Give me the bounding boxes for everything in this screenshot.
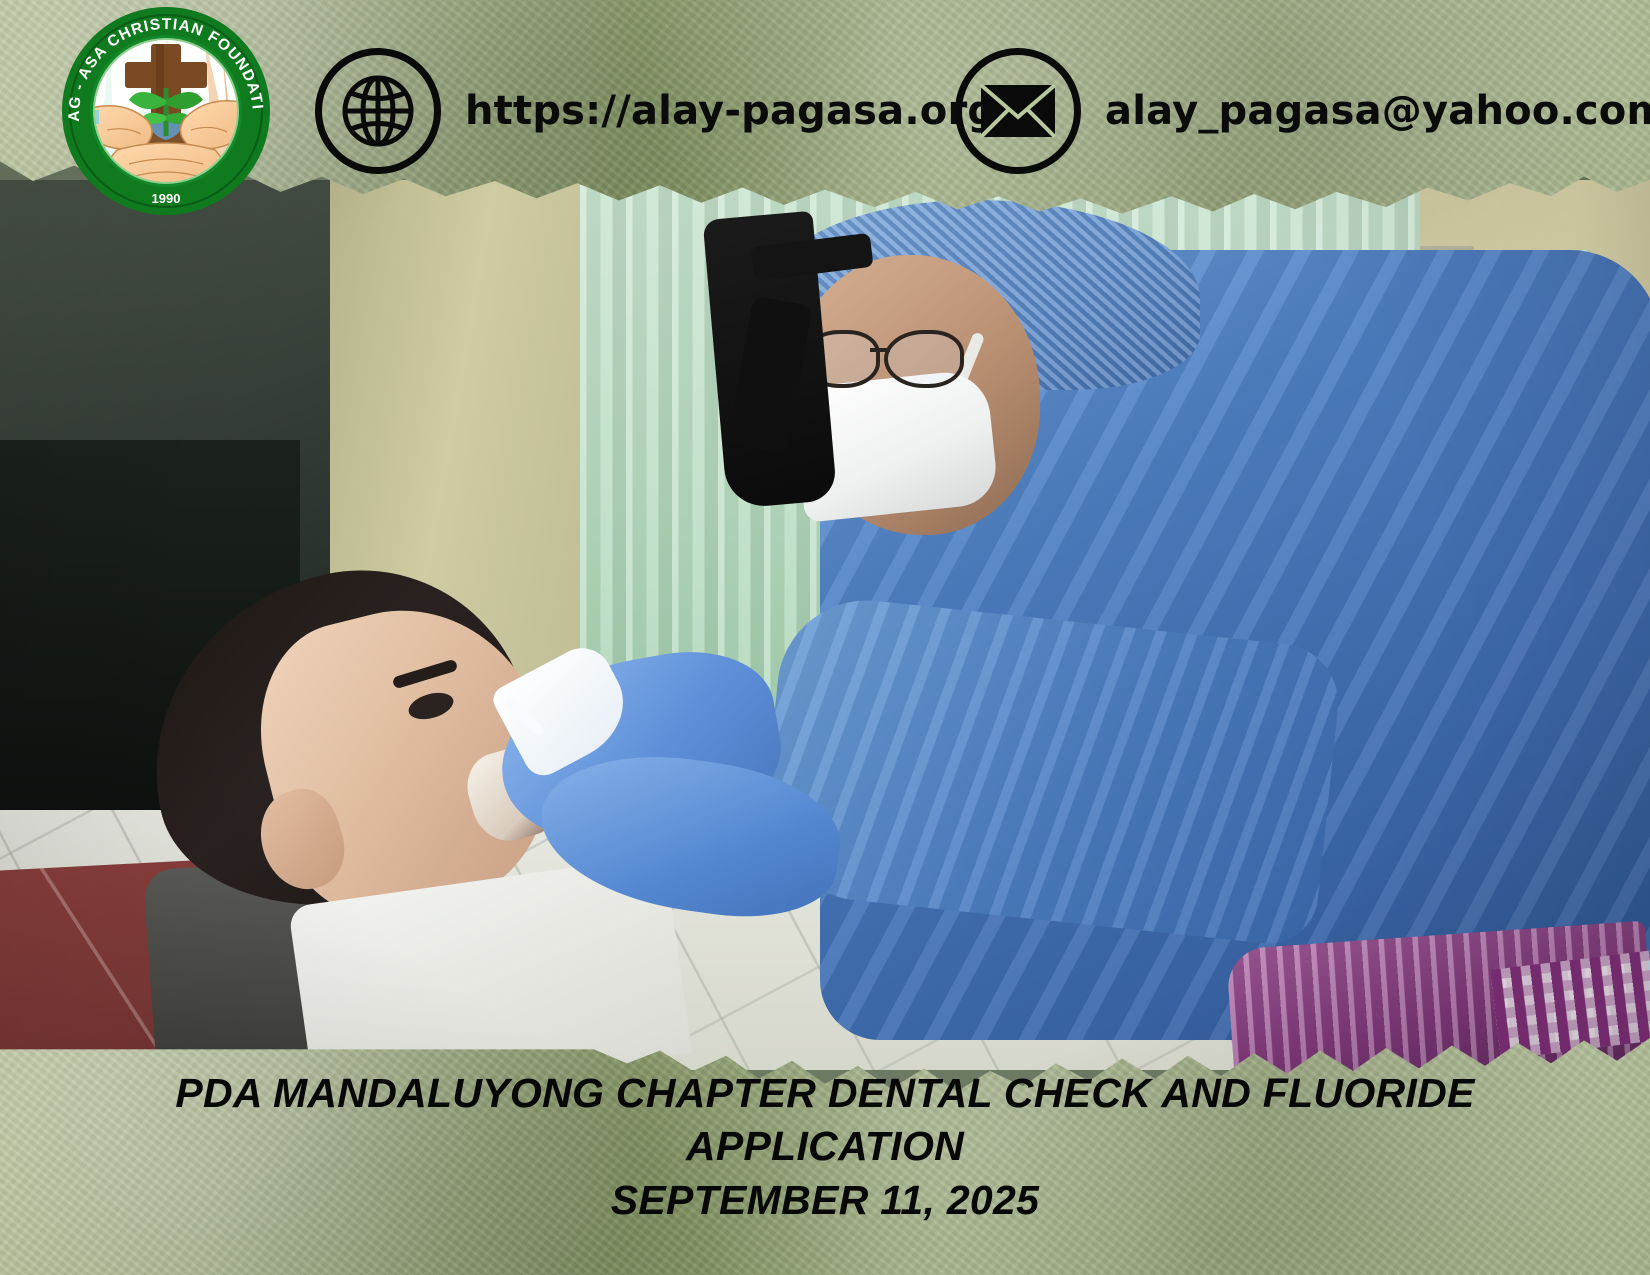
foundation-logo[interactable]: ALAY PAG - ASA CHRISTIAN FOUNDATION, INC… [55, 4, 277, 218]
envelope-icon[interactable] [955, 48, 1081, 174]
poster-root: ALAY PAG - ASA CHRISTIAN FOUNDATION, INC… [0, 0, 1650, 1275]
website-url-text[interactable]: https://alay-pagasa.org/ [465, 88, 1011, 134]
email-contact[interactable]: alay_pagasa@yahoo.com [955, 48, 1650, 174]
email-address-text[interactable]: alay_pagasa@yahoo.com [1105, 88, 1650, 134]
caption-line-2: APPLICATION [0, 1120, 1650, 1173]
poster-caption: PDA MANDALUYONG CHAPTER DENTAL CHECK AND… [0, 1067, 1650, 1227]
caption-line-1: PDA MANDALUYONG CHAPTER DENTAL CHECK AND… [0, 1067, 1650, 1120]
website-contact[interactable]: https://alay-pagasa.org/ [315, 48, 1011, 174]
globe-icon[interactable] [315, 48, 441, 174]
logo-year: 1990 [152, 191, 181, 206]
caption-date: SEPTEMBER 11, 2025 [0, 1174, 1650, 1227]
